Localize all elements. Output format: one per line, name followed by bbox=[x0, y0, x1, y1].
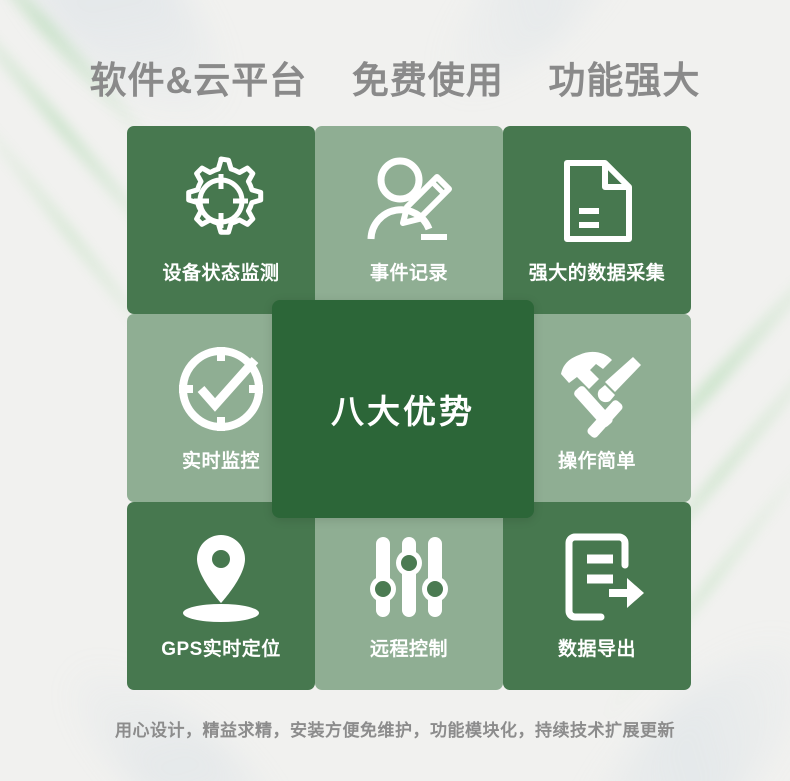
promo-banner: 软件&云平台 免费使用 功能强大 设备状态监测 bbox=[0, 0, 790, 781]
headline-part-1: 软件&云平台 bbox=[90, 50, 308, 104]
document-export-icon bbox=[547, 516, 647, 638]
feature-tile-label: 操作简单 bbox=[558, 452, 636, 471]
headline-part-2: 免费使用 bbox=[352, 50, 504, 104]
clock-check-icon bbox=[171, 328, 271, 450]
feature-tile-label: GPS实时定位 bbox=[161, 640, 281, 659]
feature-tile-data-export[interactable]: 数据导出 bbox=[503, 502, 691, 690]
document-page-icon bbox=[547, 140, 647, 262]
feature-tile-label: 强大的数据采集 bbox=[529, 264, 666, 283]
feature-tile-device-status[interactable]: 设备状态监测 bbox=[127, 126, 315, 314]
feature-tile-label: 数据导出 bbox=[558, 640, 636, 659]
person-pencil-icon bbox=[359, 140, 459, 262]
feature-tile-remote-control[interactable]: 远程控制 bbox=[315, 502, 503, 690]
feature-tile-label: 事件记录 bbox=[370, 264, 448, 283]
feature-tile-event-log[interactable]: 事件记录 bbox=[315, 126, 503, 314]
hammer-screwdriver-icon bbox=[547, 328, 647, 450]
feature-tile-label: 设备状态监测 bbox=[162, 264, 279, 283]
center-highlight-label: 八大优势 bbox=[331, 385, 475, 433]
sliders-icon bbox=[359, 516, 459, 638]
headline-part-3: 功能强大 bbox=[548, 50, 700, 104]
map-pin-icon bbox=[171, 516, 271, 638]
feature-tile-label: 远程控制 bbox=[370, 640, 448, 659]
feature-grid: 设备状态监测 事件记录 bbox=[127, 126, 691, 690]
center-highlight-tile[interactable]: 八大优势 bbox=[272, 300, 534, 518]
feature-tile-gps-location[interactable]: GPS实时定位 bbox=[127, 502, 315, 690]
page-title: 软件&云平台 免费使用 功能强大 bbox=[0, 50, 790, 104]
gear-target-icon bbox=[171, 140, 271, 262]
feature-tile-data-collection[interactable]: 强大的数据采集 bbox=[503, 126, 691, 314]
footer-tagline: 用心设计，精益求精，安装方便免维护，功能模块化，持续技术扩展更新 bbox=[0, 716, 790, 741]
feature-tile-label: 实时监控 bbox=[182, 452, 260, 471]
